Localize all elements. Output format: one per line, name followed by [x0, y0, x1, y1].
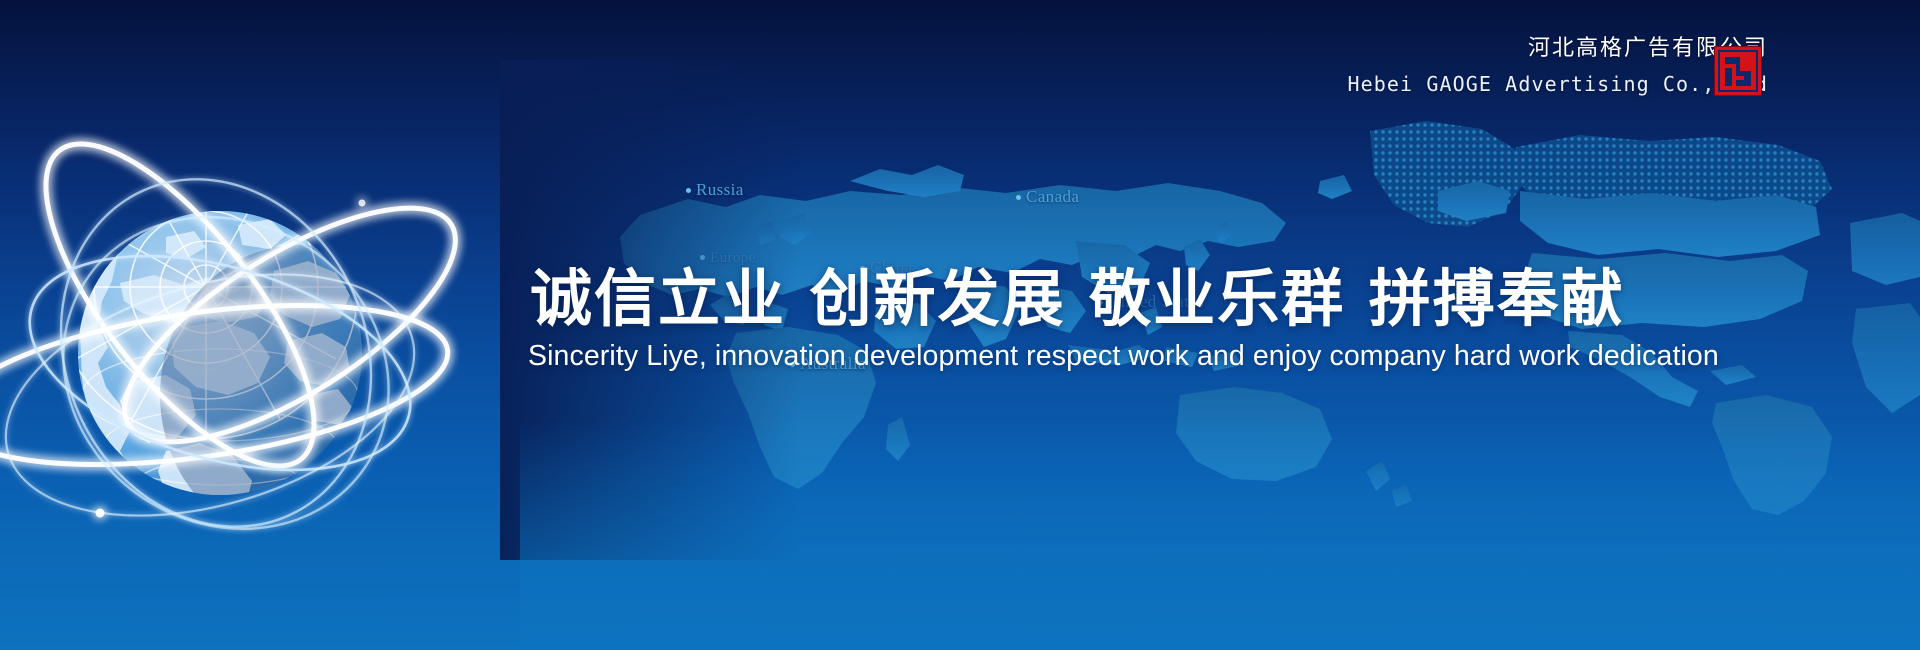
company-name-en: Hebei GAOGE Advertising Co., Ltd	[1347, 74, 1768, 94]
slogan-chinese: 诚信立业 创新发展 敬业乐群 拼搏奉献	[530, 248, 1625, 338]
globe-orbit-graphic	[0, 95, 470, 595]
map-label-canada: Canada	[1016, 187, 1079, 207]
company-identity: 河北高格广告有限公司 Hebei GAOGE Advertising Co., …	[1347, 38, 1768, 94]
company-name-cn: 河北高格广告有限公司	[1347, 38, 1768, 60]
map-label-dot-icon	[1016, 195, 1021, 200]
map-label-dot-icon	[686, 188, 691, 193]
map-label-russia: Russia	[686, 180, 744, 200]
gaoge-logo-icon	[1714, 46, 1762, 96]
map-bottom-fade	[520, 420, 1920, 650]
slogan-english: Sincerity Liye, innovation development r…	[528, 340, 1719, 373]
company-banner: Europe Russia Canada China United States…	[0, 0, 1920, 650]
